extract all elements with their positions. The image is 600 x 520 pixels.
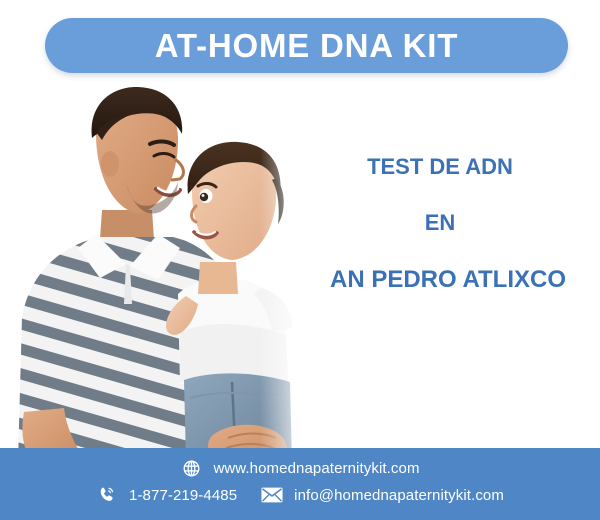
footer-row-phone-email: 1-877-219-4485 info@homednapaternitykit.…: [0, 484, 600, 506]
footer-website[interactable]: www.homednapaternitykit.com: [180, 457, 419, 479]
photo-fade-overlay: [260, 82, 330, 462]
header-banner: AT-HOME DNA KIT: [45, 18, 568, 73]
heading-line-2: EN: [300, 211, 580, 235]
footer-website-label: www.homednapaternitykit.com: [213, 460, 419, 477]
footer-contact-bar: www.homednapaternitykit.com 1-877-219-44…: [0, 448, 600, 520]
footer-phone-label: 1-877-219-4485: [129, 487, 237, 504]
footer-row-website: www.homednapaternitykit.com: [0, 457, 600, 479]
main-heading-block: TEST DE ADN EN SAN PEDRO ATLIXCO: [300, 155, 580, 294]
footer-email[interactable]: info@homednapaternitykit.com: [261, 484, 504, 506]
phone-icon: [96, 484, 118, 506]
footer-email-label: info@homednapaternitykit.com: [294, 487, 504, 504]
heading-line-3: SAN PEDRO ATLIXCO: [300, 267, 580, 293]
envelope-icon: [261, 484, 283, 506]
footer-phone[interactable]: 1-877-219-4485: [96, 484, 237, 506]
hero-photo: [0, 82, 330, 462]
globe-icon: [180, 457, 202, 479]
poster-root: AT-HOME DNA KIT: [0, 0, 600, 520]
heading-line-1: TEST DE ADN: [300, 155, 580, 179]
page-title: AT-HOME DNA KIT: [155, 29, 458, 62]
